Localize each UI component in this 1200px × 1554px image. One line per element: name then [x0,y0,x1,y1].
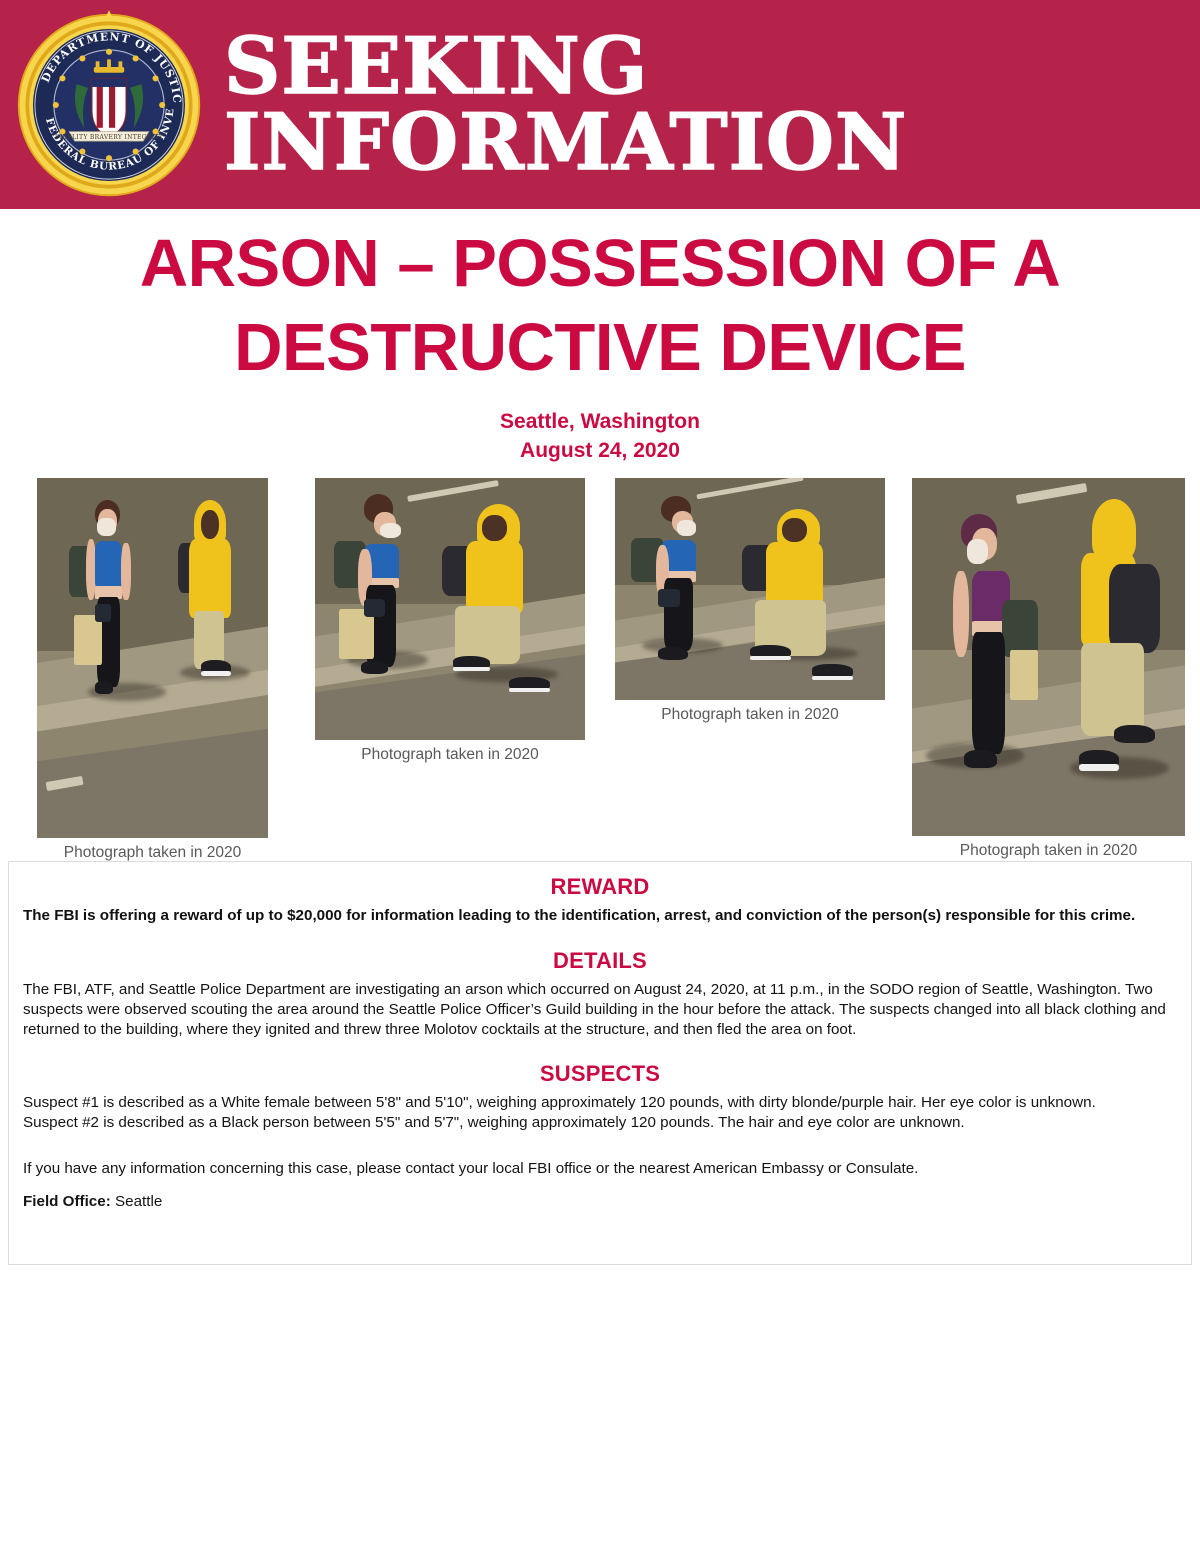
incident-location: Seattle, Washington [0,408,1200,437]
reward-text: The FBI is offering a reward of up to $2… [23,906,1177,926]
incident-date: August 24, 2020 [0,437,1200,466]
contact-instructions: If you have any information concerning t… [23,1159,1177,1179]
suspects-heading: SUSPECTS [23,1061,1177,1087]
surveillance-photo-4 [912,478,1185,836]
suspect-2-description: Suspect #2 is described as a Black perso… [23,1113,1177,1133]
photo-cell-3: Photograph taken in 2020 [615,478,885,724]
reward-heading: REWARD [23,874,1177,900]
details-heading: DETAILS [23,948,1177,974]
photo-caption-2: Photograph taken in 2020 [315,740,585,764]
details-text: The FBI, ATF, and Seattle Police Departm… [23,980,1177,1040]
field-office-label: Field Office: [23,1193,111,1210]
poster-details-box: REWARD The FBI is offering a reward of u… [8,861,1192,1265]
photo-gallery: Photograph taken in 2020 [0,0,1200,400]
surveillance-photo-3 [615,478,885,700]
photo-cell-4: Photograph taken in 2020 [912,478,1185,860]
surveillance-photo-1 [37,478,268,838]
photo-caption-1: Photograph taken in 2020 [37,838,268,862]
photo-cell-1: Photograph taken in 2020 [37,478,268,862]
photo-caption-4: Photograph taken in 2020 [912,836,1185,860]
field-office-row: Field Office: Seattle [23,1193,1177,1210]
photo-cell-2: Photograph taken in 2020 [315,478,585,764]
incident-location-date: Seattle, Washington August 24, 2020 [0,408,1200,466]
field-office-value: Seattle [115,1193,162,1210]
photo-caption-3: Photograph taken in 2020 [615,700,885,724]
surveillance-photo-2 [315,478,585,740]
suspect-1-description: Suspect #1 is described as a White femal… [23,1093,1177,1113]
